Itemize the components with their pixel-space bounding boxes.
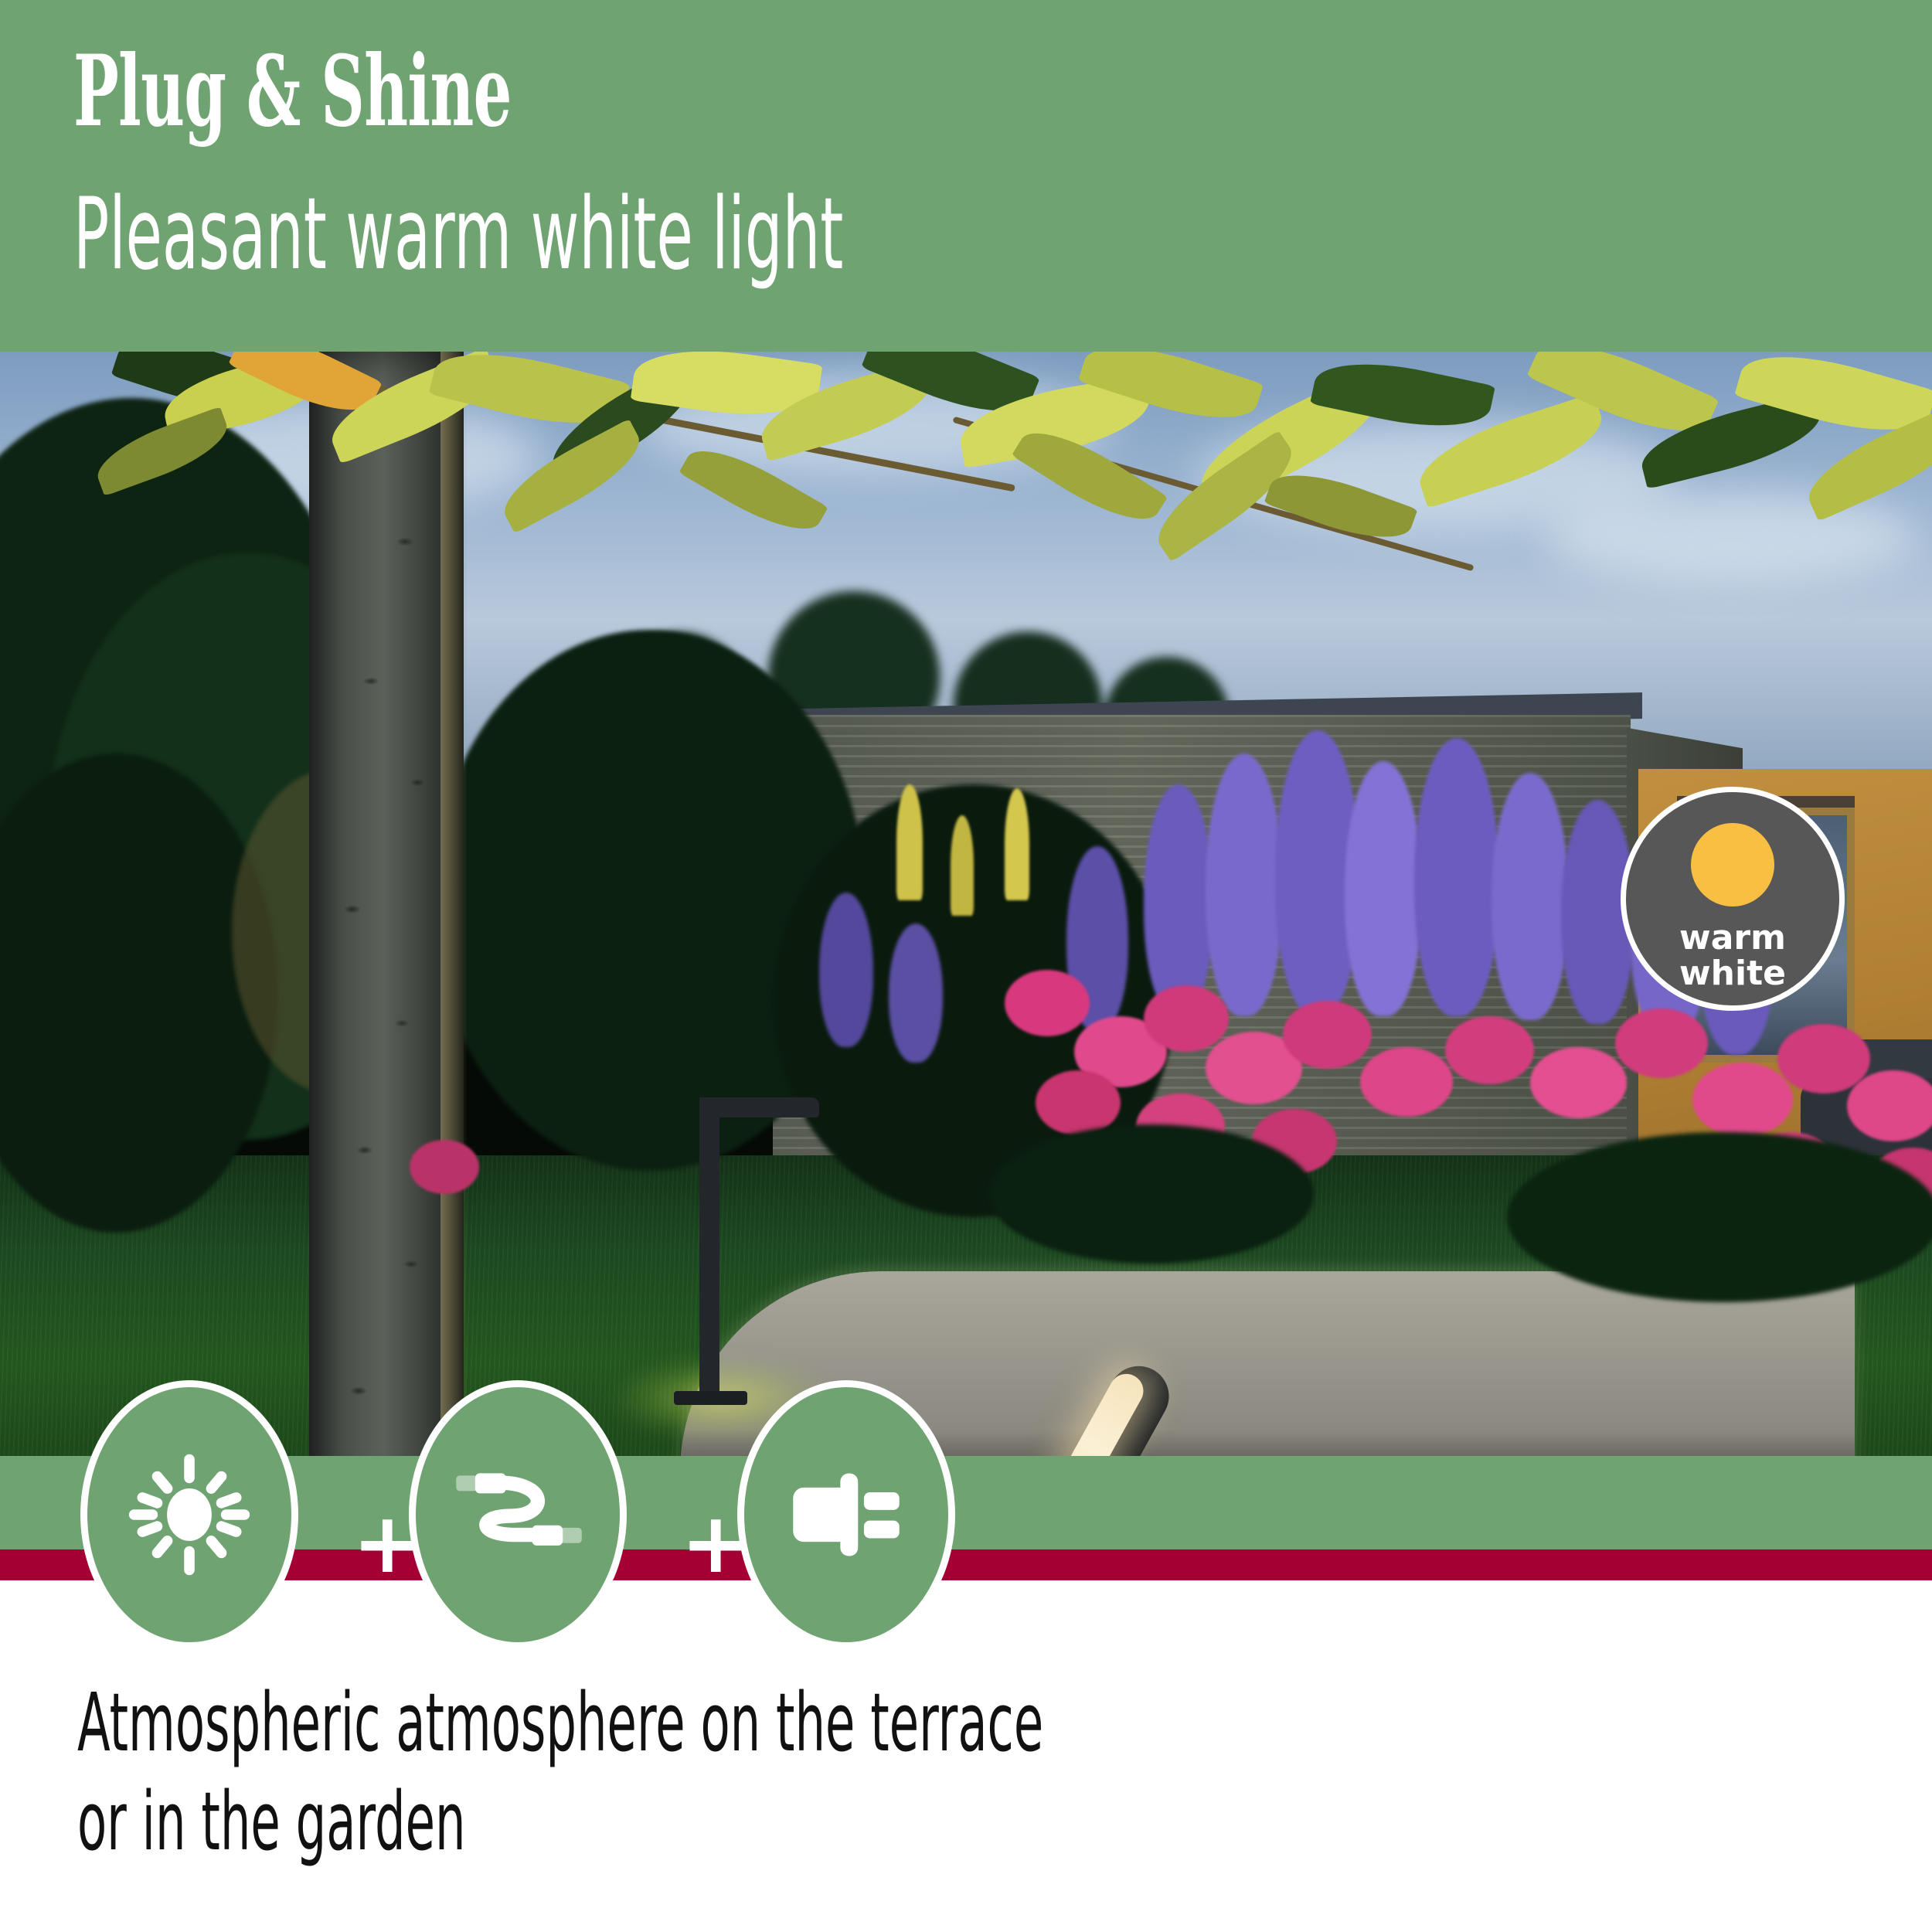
pink-flower xyxy=(1692,1063,1793,1137)
purple-salvia xyxy=(1206,753,1283,1016)
feature-icon-cable xyxy=(409,1380,627,1649)
purple-salvia xyxy=(1492,773,1569,1020)
header-banner: Plug & Shine Pleasant warm white light xyxy=(0,0,1932,352)
tree-canopy xyxy=(0,352,1932,661)
warm-white-label-line2: white xyxy=(1679,956,1786,992)
pink-flower xyxy=(1005,970,1090,1036)
warm-white-label-line1: warm xyxy=(1679,920,1786,956)
feature-icon-row: + + xyxy=(0,1380,1932,1651)
pink-flower xyxy=(1283,1001,1372,1069)
leaf xyxy=(90,406,236,496)
purple-salvia xyxy=(889,923,943,1063)
pink-flower xyxy=(410,1140,479,1194)
pink-flower xyxy=(1360,1047,1453,1117)
pink-flower xyxy=(1144,985,1229,1052)
power-plug-icon xyxy=(781,1457,911,1573)
yellow-spike-flower xyxy=(951,815,974,916)
bed-foliage xyxy=(1507,1132,1932,1302)
pink-flower xyxy=(1445,1016,1534,1084)
pink-flower xyxy=(1615,1009,1708,1078)
yellow-spike-flower xyxy=(896,784,923,900)
purple-salvia xyxy=(1345,761,1422,1016)
purple-salvia xyxy=(1414,738,1499,1016)
feature-icon-plug xyxy=(737,1380,955,1649)
bed-foliage xyxy=(989,1124,1314,1264)
bollard-light-post xyxy=(699,1097,719,1399)
cable-connector-icon xyxy=(447,1457,589,1573)
yellow-spike-flower xyxy=(1005,788,1029,900)
pink-flower xyxy=(1530,1047,1627,1118)
page-subtitle: Pleasant warm white light xyxy=(73,185,843,284)
warm-white-color-dot xyxy=(1691,823,1774,906)
pink-flower xyxy=(1036,1070,1121,1135)
purple-salvia xyxy=(819,893,873,1047)
purple-salvia xyxy=(1144,784,1213,1016)
sun-light-icon xyxy=(124,1449,255,1580)
poster-root: Plug & Shine Pleasant warm white light xyxy=(0,0,1932,1932)
page-title: Plug & Shine xyxy=(73,43,512,140)
feature-icon-light xyxy=(80,1380,298,1649)
caption-text: Atmospheric atmosphere on the terrace or… xyxy=(77,1673,1051,1871)
bollard-light-arm xyxy=(699,1097,819,1117)
warm-white-badge: warm white xyxy=(1621,787,1845,1011)
warm-white-label: warm white xyxy=(1679,920,1786,992)
pink-flower xyxy=(1847,1070,1932,1141)
